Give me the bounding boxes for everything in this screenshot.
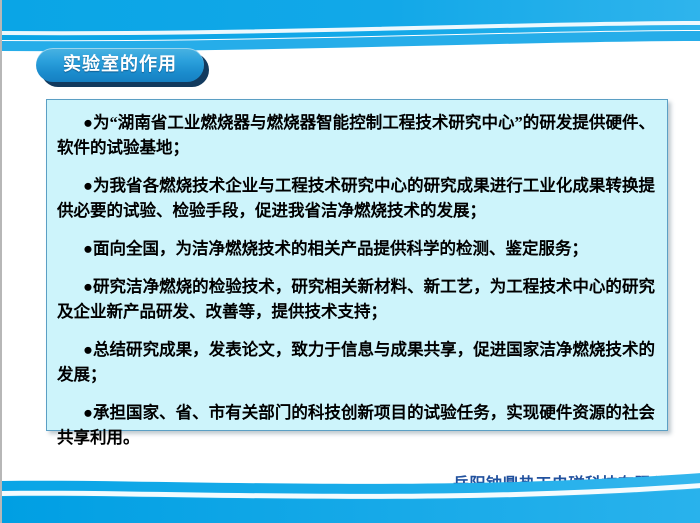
section-title-label: 实验室的作用 [63,56,177,74]
bullet-list: ●为“湖南省工业燃烧器与燃烧器智能控制工程技术研究中心”的研发提供硬件、软件的试… [47,100,667,450]
bullet-item-3: ●面向全国，为洁净燃烧技术的相关产品提供科学的检测、鉴定服务； [57,236,655,261]
content-panel: ●为“湖南省工业燃烧器与燃烧器智能控制工程技术研究中心”的研发提供硬件、软件的试… [46,99,668,431]
bullet-item-1: ●为“湖南省工业燃烧器与燃烧器智能控制工程技术研究中心”的研发提供硬件、软件的试… [57,110,655,160]
section-title-badge-pill: 实验室的作用 [36,48,204,82]
bullet-item-5: ●总结研究成果，发表论文，致力于信息与成果共享，促进国家洁净燃烧技术的发展； [57,337,655,387]
slide-canvas: 实验室的作用 ●为“湖南省工业燃烧器与燃烧器智能控制工程技术研究中心”的研发提供… [0,0,700,523]
section-title-badge: 实验室的作用 [36,48,208,86]
bullet-item-2: ●为我省各燃烧技术企业与工程技术研究中心的研究成果进行工业化成果转换提供必要的试… [57,173,655,223]
bullet-item-4: ●研究洁净燃烧的检验技术，研究相关新材料、新工艺，为工程技术中心的研究及企业新产… [57,274,655,324]
footer-company-name: 岳阳钟鼎热工电磁科技有限公司 [453,470,684,494]
bullet-item-6: ●承担国家、省、市有关部门的科技创新项目的试验任务，实现硬件资源的社会共享利用。 [57,400,655,450]
